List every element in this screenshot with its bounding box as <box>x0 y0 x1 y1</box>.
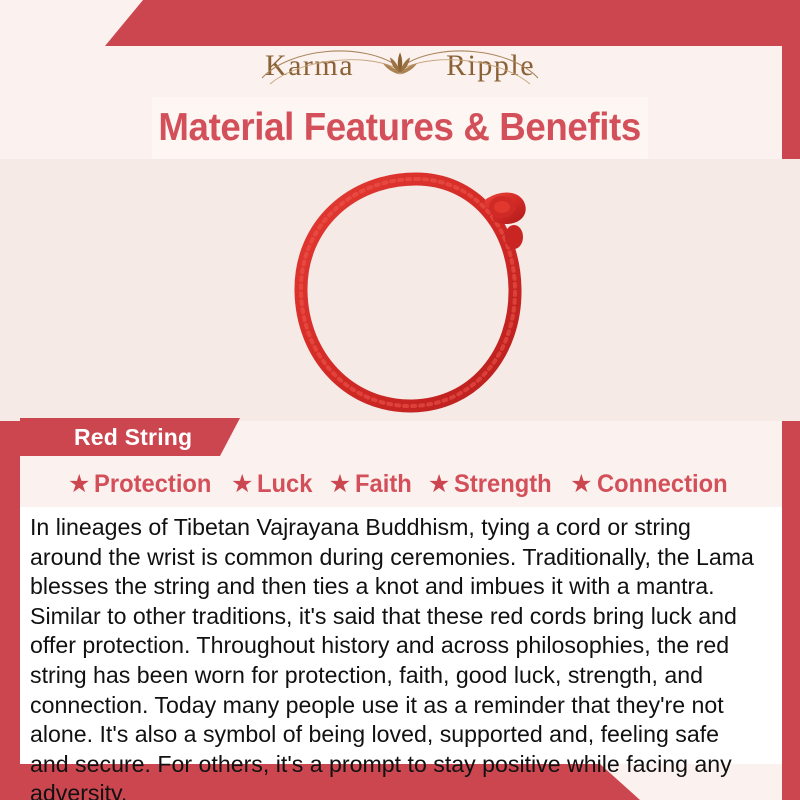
benefit-label: Protection <box>94 470 211 499</box>
material-banner: Red String <box>20 418 240 456</box>
benefit-label: Luck <box>257 470 312 499</box>
lotus-icon <box>380 48 420 82</box>
benefit-item-luck: ★ Luck <box>231 470 316 499</box>
description-panel: In lineages of Tibetan Vajrayana Buddhis… <box>20 507 782 764</box>
benefit-item-strength: ★ Strength <box>428 470 557 499</box>
red-string-bracelet-image <box>268 167 558 427</box>
benefit-label: Faith <box>355 470 412 499</box>
benefit-item-faith: ★ Faith <box>329 470 415 499</box>
product-image-area <box>0 159 800 421</box>
star-icon: ★ <box>231 472 253 497</box>
benefit-item-connection: ★ Connection <box>570 470 734 499</box>
infographic-page: Karma Ripple Material Features & Benefit… <box>0 0 800 800</box>
star-icon: ★ <box>68 472 90 497</box>
material-name: Red String <box>74 424 192 451</box>
star-icon: ★ <box>329 472 351 497</box>
benefit-item-protection: ★ Protection <box>68 470 218 499</box>
page-title: Material Features & Benefits <box>159 106 642 150</box>
benefits-list: ★ Protection ★ Luck ★ Faith ★ Strength ★… <box>20 464 782 504</box>
title-band: Material Features & Benefits <box>152 97 648 159</box>
description-text: In lineages of Tibetan Vajrayana Buddhis… <box>30 513 757 800</box>
benefit-label: Connection <box>597 470 728 499</box>
brand-logo: Karma Ripple <box>0 38 800 94</box>
star-icon: ★ <box>570 472 592 497</box>
star-icon: ★ <box>428 472 450 497</box>
benefit-label: Strength <box>454 470 552 499</box>
